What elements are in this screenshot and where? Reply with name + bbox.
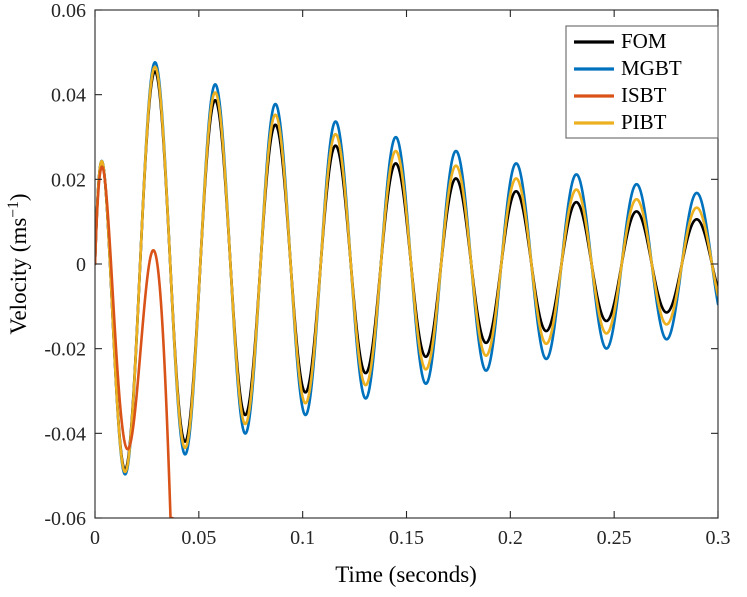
y-tick-label: -0.04 <box>44 423 86 445</box>
x-tick-label: 0.25 <box>597 527 632 549</box>
x-axis-title: Time (seconds) <box>335 562 477 587</box>
velocity-time-chart: 00.050.10.150.20.250.3 -0.06-0.04-0.0200… <box>0 0 747 597</box>
series-layer <box>95 62 718 581</box>
x-tick-label: 0.1 <box>290 527 315 549</box>
y-tick-label: 0.06 <box>51 0 86 22</box>
y-tick-label: 0.02 <box>51 169 86 191</box>
legend-label-isbt[interactable]: ISBT <box>621 83 667 107</box>
x-tick-label: 0.05 <box>181 527 216 549</box>
legend[interactable]: FOMMGBTISBTPIBT <box>566 26 718 138</box>
legend-label-mgbt[interactable]: MGBT <box>621 56 682 80</box>
y-tick-label: -0.02 <box>44 339 86 361</box>
x-tick-label: 0.15 <box>389 527 424 549</box>
chart-canvas: 00.050.10.150.20.250.3 -0.06-0.04-0.0200… <box>0 0 747 597</box>
y-tick-label: 0.04 <box>51 85 86 107</box>
y-tick-labels: -0.06-0.04-0.0200.020.040.06 <box>44 0 86 530</box>
x-tick-label: 0 <box>90 527 100 549</box>
y-tick-label: -0.06 <box>44 508 86 530</box>
x-tick-label: 0.2 <box>498 527 523 549</box>
x-tick-labels: 00.050.10.150.20.250.3 <box>90 527 731 549</box>
legend-label-pibt[interactable]: PIBT <box>621 110 667 134</box>
legend-label-fom[interactable]: FOM <box>621 29 667 53</box>
x-tick-label: 0.3 <box>706 527 731 549</box>
y-tick-label: 0 <box>76 254 86 276</box>
y-axis-title: Velocity (ms−1) <box>5 193 32 334</box>
